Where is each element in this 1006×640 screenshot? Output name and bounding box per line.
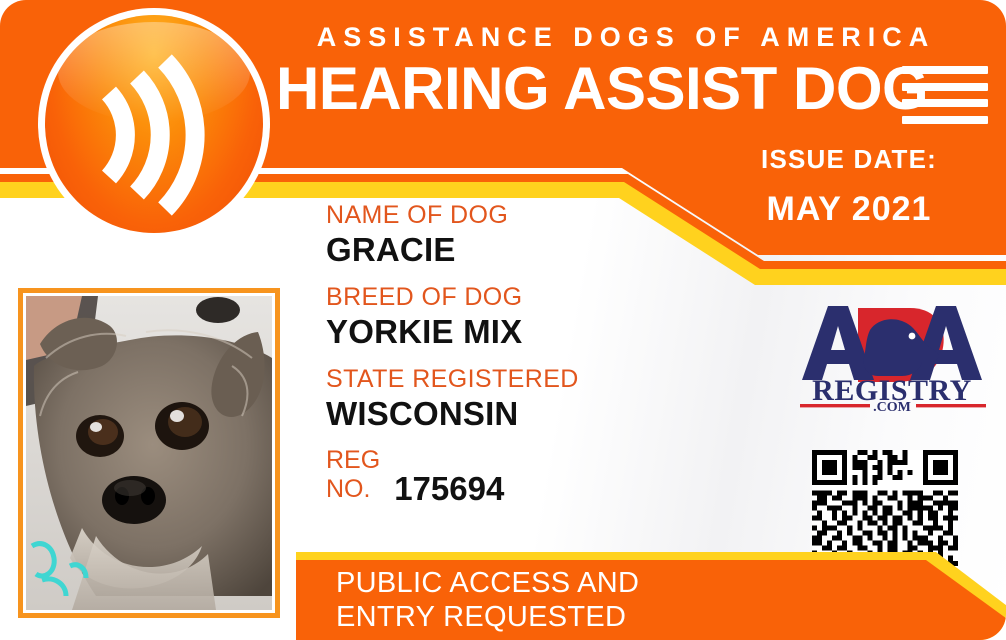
dog-photo xyxy=(26,296,272,610)
issue-date-value: MAY 2021 xyxy=(706,190,992,229)
field-label: NAME OF DOG xyxy=(326,200,666,230)
reg-no-value: 175694 xyxy=(394,470,504,508)
issue-date-label: ISSUE DATE: xyxy=(706,144,992,175)
field-value: YORKIE MIX xyxy=(326,312,666,352)
ada-registry-logo-graphic: REGISTRY .COM xyxy=(792,296,992,412)
dog-details: NAME OF DOG GRACIE BREED OF DOG YORKIE M… xyxy=(326,200,666,508)
footer-line-2: ENTRY REQUESTED xyxy=(336,600,756,634)
field-breed-of-dog: BREED OF DOG YORKIE MIX xyxy=(326,282,666,352)
field-reg-no: REG NO. 175694 xyxy=(326,446,666,508)
card-title: HEARING ASSIST DOG xyxy=(276,58,896,120)
reg-label-line2: NO. xyxy=(326,475,380,504)
field-label: STATE REGISTERED xyxy=(326,364,666,394)
footer-line-1: PUBLIC ACCESS AND xyxy=(336,566,756,600)
field-name-of-dog: NAME OF DOG GRACIE xyxy=(326,200,666,270)
organization-name: ASSISTANCE DOGS OF AMERICA xyxy=(276,22,976,53)
id-card: ASSISTANCE DOGS OF AMERICA HEARING ASSIS… xyxy=(0,0,1006,640)
field-label: BREED OF DOG xyxy=(326,282,666,312)
field-state-registered: STATE REGISTERED WISCONSIN xyxy=(326,364,666,434)
field-value: WISCONSIN xyxy=(326,394,666,434)
dog-photo-illustration xyxy=(26,296,272,610)
ada-registry-logo: REGISTRY .COM xyxy=(792,296,992,412)
dog-photo-frame xyxy=(18,288,280,618)
flag-stripes-icon xyxy=(902,66,988,124)
sound-wave-logo xyxy=(38,8,270,240)
field-value: GRACIE xyxy=(326,230,666,270)
footer-text: PUBLIC ACCESS AND ENTRY REQUESTED xyxy=(336,566,756,634)
sound-wave-icon xyxy=(45,15,263,233)
reg-no-label: REG NO. xyxy=(326,446,380,504)
ada-tld: .COM xyxy=(873,400,911,412)
reg-label-line1: REG xyxy=(326,446,380,475)
